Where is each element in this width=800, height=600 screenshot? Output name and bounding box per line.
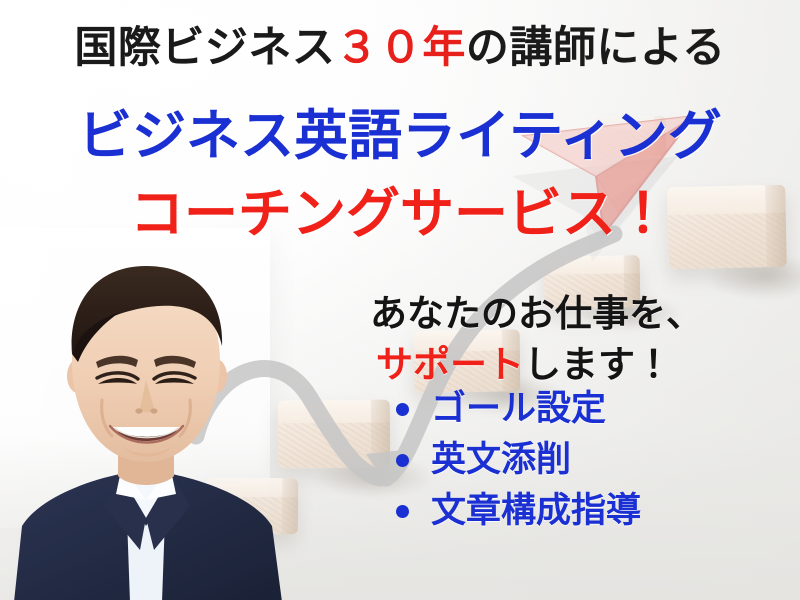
bullet-icon: [396, 403, 409, 416]
instructor-portrait: [0, 250, 298, 600]
list-item: ゴール設定: [396, 392, 796, 427]
feature-label: 英文添削: [431, 443, 571, 478]
feature-label: 文章構成指導: [431, 494, 641, 529]
headline-line-1-accent: ３０年: [335, 23, 466, 73]
support-suffix: します！: [524, 343, 672, 386]
feature-list: ゴール設定 英文添削 文章構成指導: [396, 392, 796, 545]
support-line-1: あなたのお仕事を、: [370, 288, 790, 339]
support-accent: サポート: [376, 343, 524, 386]
headline-line-1: 国際ビジネス３０年の講師による: [0, 24, 800, 72]
feature-label: ゴール設定: [431, 392, 606, 427]
headline-line-3: コーチングサービス！: [0, 184, 800, 243]
promo-banner: 国際ビジネス３０年の講師による ビジネス英語ライティング コーチングサービス！ …: [0, 0, 800, 600]
list-item: 文章構成指導: [396, 494, 796, 529]
headline-line-1-prefix: 国際ビジネス: [74, 23, 335, 73]
headline-line-2: ビジネス英語ライティング: [0, 106, 800, 165]
bullet-icon: [396, 505, 409, 518]
headline-line-1-suffix: の講師による: [466, 23, 726, 73]
support-copy: あなたのお仕事を、 サポートします！: [370, 288, 790, 390]
bullet-icon: [396, 454, 409, 467]
list-item: 英文添削: [396, 443, 796, 478]
support-line-2: サポートします！: [370, 339, 790, 390]
